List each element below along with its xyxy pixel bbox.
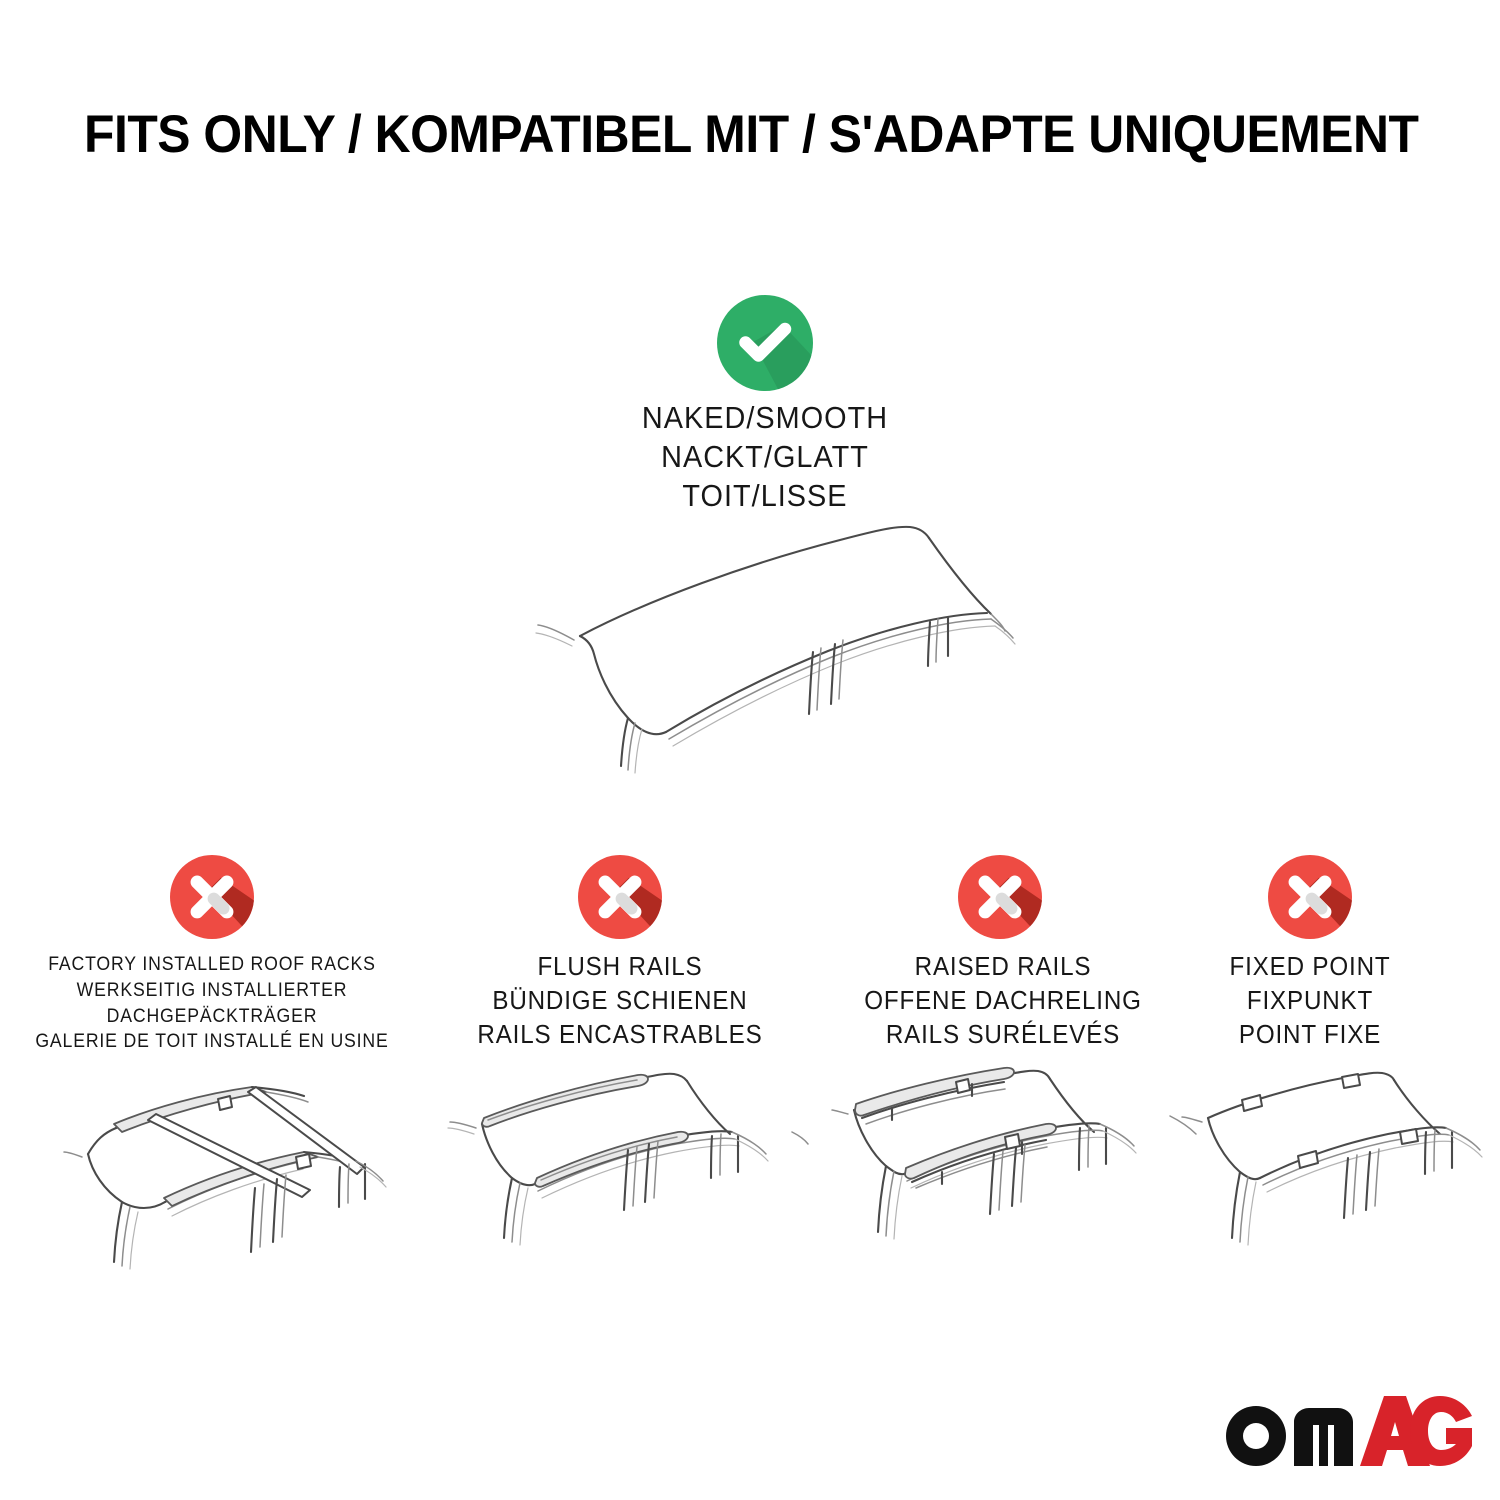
caption-line: POINT FIXE: [1166, 1018, 1454, 1052]
caption-line: BÜNDIGE SCHIENEN: [443, 984, 796, 1018]
logo-letter-m: [1294, 1408, 1353, 1466]
caption-line: DACHGEPÄCKTRÄGER: [26, 1004, 398, 1030]
incompatible-caption-0: FACTORY INSTALLED ROOF RACKS WERKSEITIG …: [26, 952, 398, 1055]
car-roof-flush-rails-illustration: [442, 1062, 812, 1282]
red-x-circle-icon: [170, 855, 254, 939]
compatible-caption: NAKED/SMOOTH NACKT/GLATT TOIT/LISSE: [533, 398, 998, 515]
caption-line: OFFENE DACHRELING: [831, 984, 1175, 1018]
caption-line: FACTORY INSTALLED ROOF RACKS: [26, 952, 398, 978]
caption-line: FIXED POINT: [1166, 950, 1454, 984]
car-roof-fixed-point-illustration: [1182, 1062, 1500, 1282]
incompatible-caption-1: FLUSH RAILS BÜNDIGE SCHIENEN RAILS ENCAS…: [443, 950, 796, 1051]
incompatible-caption-3: FIXED POINT FIXPUNKT POINT FIXE: [1166, 950, 1454, 1051]
logo-letter-c: [1410, 1396, 1472, 1466]
red-x-circle-icon: [958, 855, 1042, 939]
caption-line: WERKSEITIG INSTALLIERTER: [26, 978, 398, 1004]
car-roof-naked-smooth-illustration: [498, 518, 1038, 788]
car-roof-factory-rack-illustration: [52, 1062, 422, 1282]
caption-line: RAILS SURÉLEVÉS: [831, 1018, 1175, 1052]
red-x-circle-icon: [1268, 855, 1352, 939]
caption-line: FIXPUNKT: [1166, 984, 1454, 1018]
incompatible-caption-2: RAISED RAILS OFFENE DACHRELING RAILS SUR…: [831, 950, 1175, 1051]
caption-line: TOIT/LISSE: [533, 476, 998, 515]
caption-line: NACKT/GLATT: [533, 437, 998, 476]
caption-line: RAILS ENCASTRABLES: [443, 1018, 796, 1052]
caption-line: NAKED/SMOOTH: [533, 398, 998, 437]
omac-logo: [1220, 1394, 1472, 1470]
caption-line: FLUSH RAILS: [443, 950, 796, 984]
red-x-circle-icon: [578, 855, 662, 939]
logo-letter-o: [1226, 1406, 1286, 1466]
caption-line: RAISED RAILS: [831, 950, 1175, 984]
infographic-canvas: FITS ONLY / KOMPATIBEL MIT / S'ADAPTE UN…: [0, 0, 1500, 1500]
caption-line: GALERIE DE TOIT INSTALLÉ EN USINE: [26, 1029, 398, 1055]
green-check-circle-icon: [717, 295, 813, 391]
page-title: FITS ONLY / KOMPATIBEL MIT / S'ADAPTE UN…: [84, 108, 1344, 161]
car-roof-raised-rails-illustration: [832, 1062, 1202, 1282]
